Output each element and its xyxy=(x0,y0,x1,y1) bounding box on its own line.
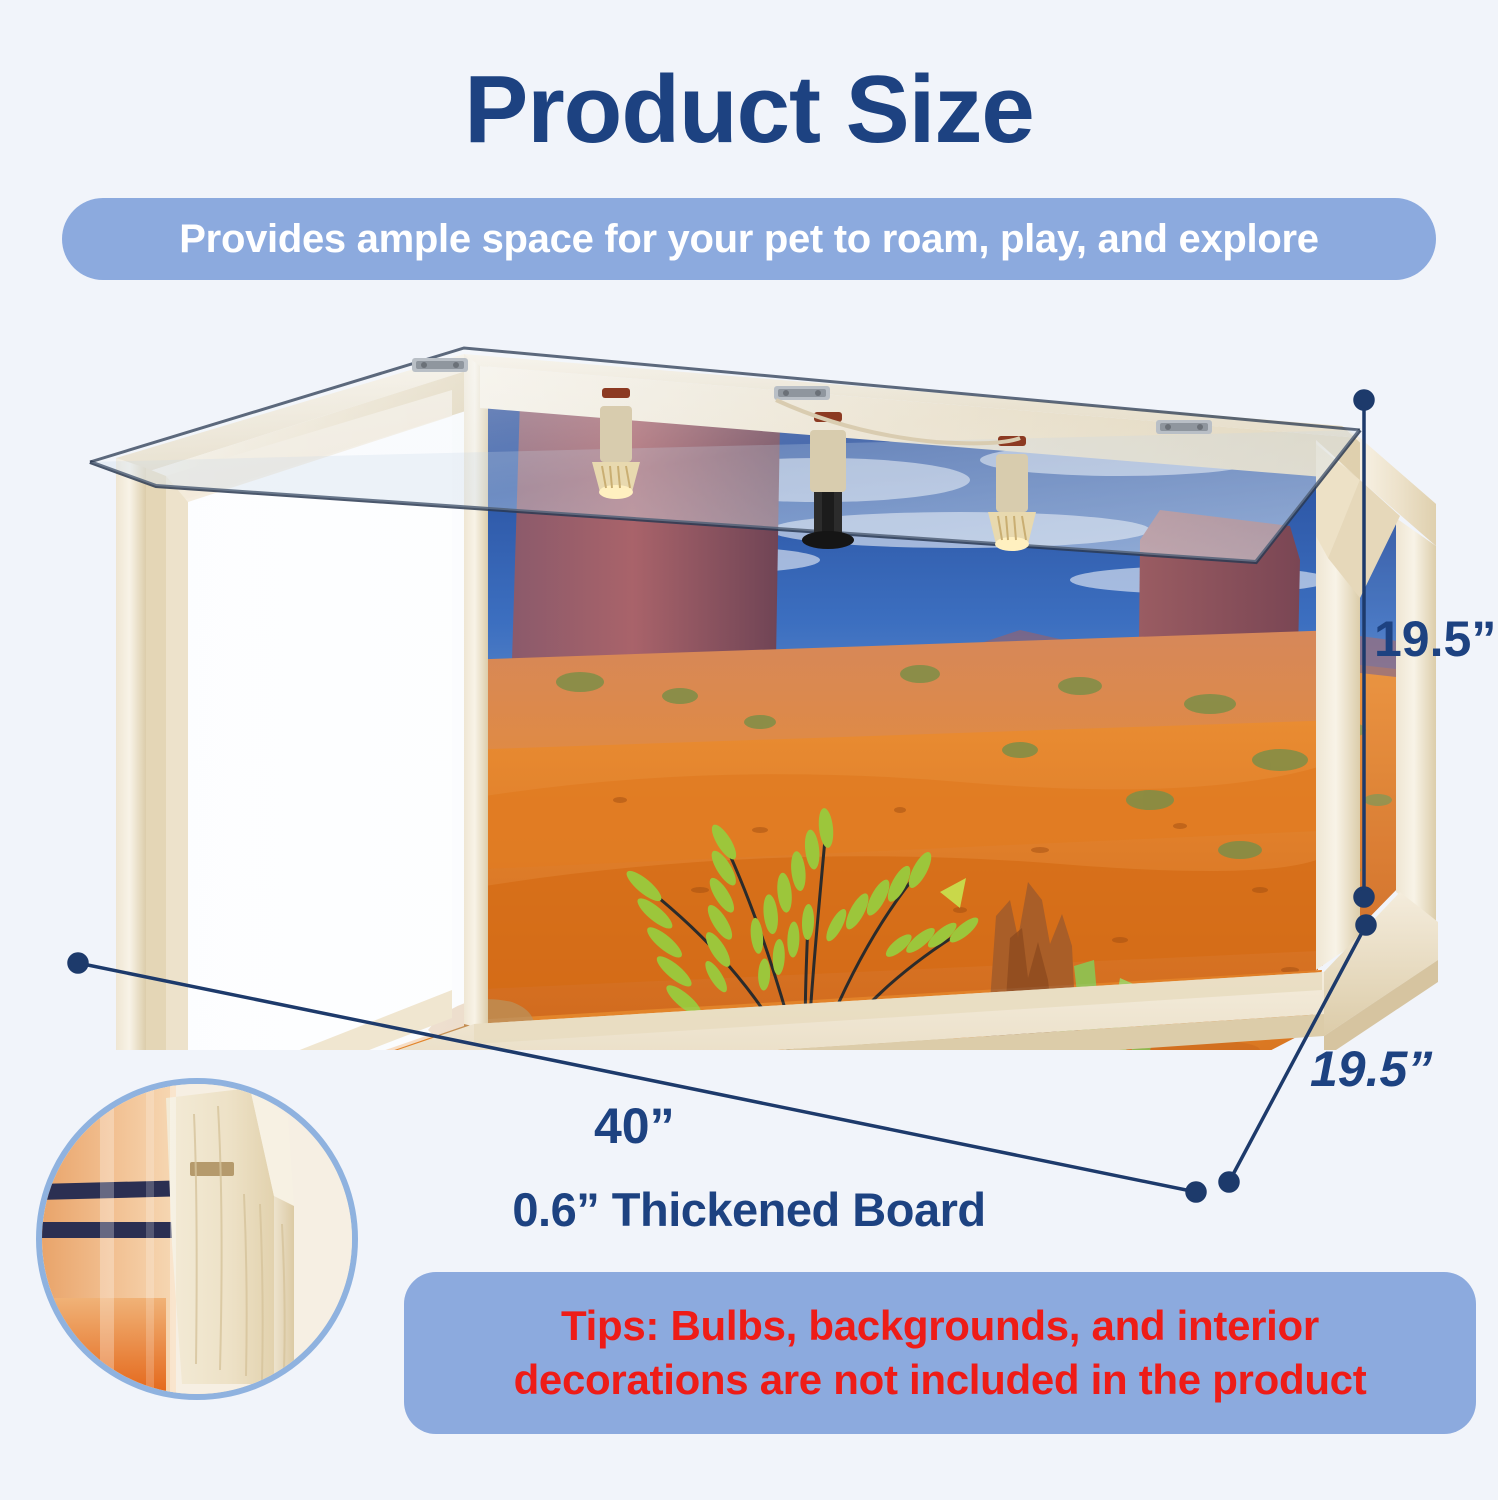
width-dimension-label: 40” xyxy=(594,1097,675,1155)
page-title: Product Size xyxy=(0,62,1498,158)
tips-banner: Tips: Bulbs, backgrounds, and interior d… xyxy=(404,1272,1476,1434)
tips-line-1: Tips: Bulbs, backgrounds, and interior xyxy=(561,1302,1319,1350)
corner-joint-inset xyxy=(36,1078,358,1400)
terrarium-illustration xyxy=(60,330,1480,1050)
corner-joint-photo xyxy=(42,1084,352,1394)
depth-dimension-label: 19.5” xyxy=(1310,1040,1432,1098)
subtitle-banner: Provides ample space for your pet to roa… xyxy=(62,198,1436,280)
height-dimension-label: 19.5” xyxy=(1374,610,1496,668)
subtitle-text: Provides ample space for your pet to roa… xyxy=(179,217,1318,262)
tips-line-2: decorations are not included in the prod… xyxy=(514,1356,1367,1404)
product-size-infographic: Product Size Provides ample space for yo… xyxy=(0,0,1498,1500)
